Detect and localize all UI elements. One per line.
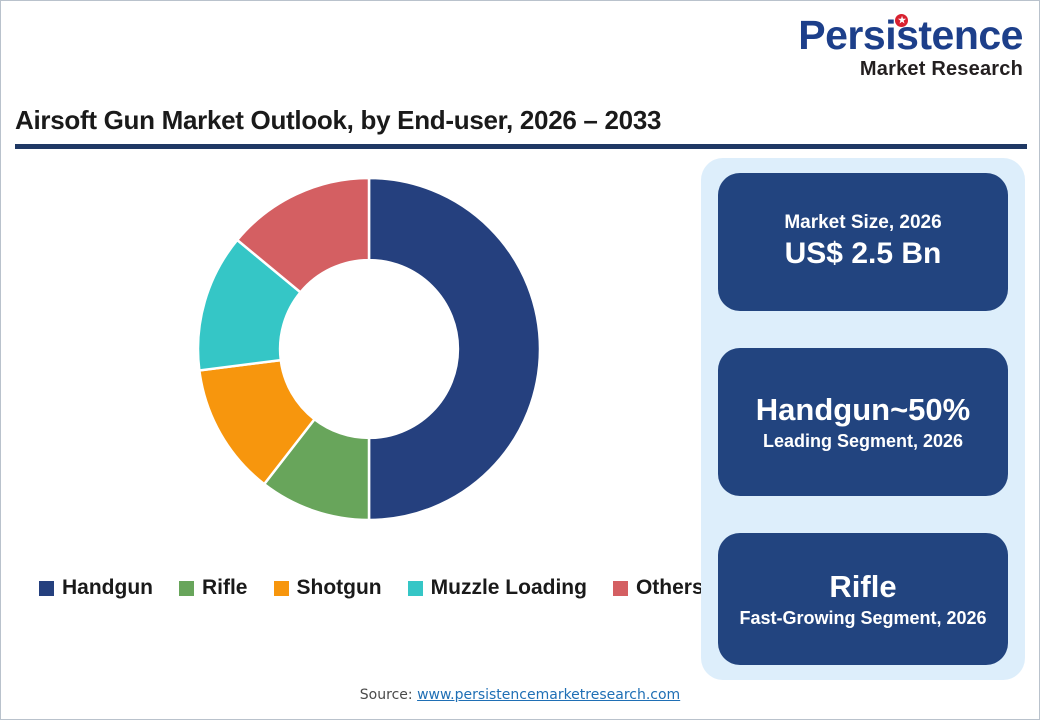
donut-chart xyxy=(198,178,540,520)
stat-card-1-value: US$ 2.5 Bn xyxy=(785,235,942,273)
brand-name: Persistence xyxy=(798,15,1023,56)
legend-item-label: Others xyxy=(636,576,704,600)
legend-swatch-icon xyxy=(408,581,423,596)
source-footer: Source: www.persistencemarketresearch.co… xyxy=(1,687,1039,703)
legend-item-muzzle-loading[interactable]: Muzzle Loading xyxy=(408,576,587,600)
legend-swatch-icon xyxy=(613,581,628,596)
stat-card-market-size: Market Size, 2026 US$ 2.5 Bn xyxy=(718,173,1008,311)
chart-legend: HandgunRifleShotgunMuzzle LoadingOthers xyxy=(39,576,704,600)
stat-card-1-head: Market Size, 2026 xyxy=(784,211,941,235)
brand-logo: Persistence Market Research xyxy=(798,15,1023,79)
legend-item-shotgun[interactable]: Shotgun xyxy=(274,576,382,600)
legend-item-others[interactable]: Others xyxy=(613,576,704,600)
chart-area: HandgunRifleShotgunMuzzle LoadingOthers xyxy=(1,151,701,621)
stat-card-2-value: Handgun~50% xyxy=(756,390,970,430)
source-prefix: Source: xyxy=(360,687,417,703)
legend-item-rifle[interactable]: Rifle xyxy=(179,576,248,600)
legend-item-label: Muzzle Loading xyxy=(431,576,587,600)
legend-item-handgun[interactable]: Handgun xyxy=(39,576,153,600)
page-title: Airsoft Gun Market Outlook, by End-user,… xyxy=(15,105,1027,136)
legend-swatch-icon xyxy=(39,581,54,596)
stat-card-3-value: Rifle xyxy=(829,567,896,607)
legend-swatch-icon xyxy=(179,581,194,596)
legend-item-label: Rifle xyxy=(202,576,248,600)
star-dot-icon xyxy=(895,14,908,27)
donut-slice-handgun[interactable] xyxy=(369,178,540,520)
title-block: Airsoft Gun Market Outlook, by End-user,… xyxy=(15,105,1027,149)
infographic-frame: Persistence Market Research Airsoft Gun … xyxy=(0,0,1040,720)
stats-panel: Market Size, 2026 US$ 2.5 Bn Handgun~50%… xyxy=(701,158,1025,680)
stat-card-leading-segment: Handgun~50% Leading Segment, 2026 xyxy=(718,348,1008,496)
stat-card-2-sub: Leading Segment, 2026 xyxy=(763,430,963,453)
legend-swatch-icon xyxy=(274,581,289,596)
stat-card-fast-growing-segment: Rifle Fast-Growing Segment, 2026 xyxy=(718,533,1008,665)
source-link[interactable]: www.persistencemarketresearch.com xyxy=(417,687,680,703)
brand-name-text: Persistence xyxy=(798,12,1023,58)
title-underline xyxy=(15,144,1027,149)
legend-item-label: Handgun xyxy=(62,576,153,600)
stat-card-3-sub: Fast-Growing Segment, 2026 xyxy=(739,607,986,630)
brand-tagline: Market Research xyxy=(798,59,1023,79)
legend-item-label: Shotgun xyxy=(297,576,382,600)
